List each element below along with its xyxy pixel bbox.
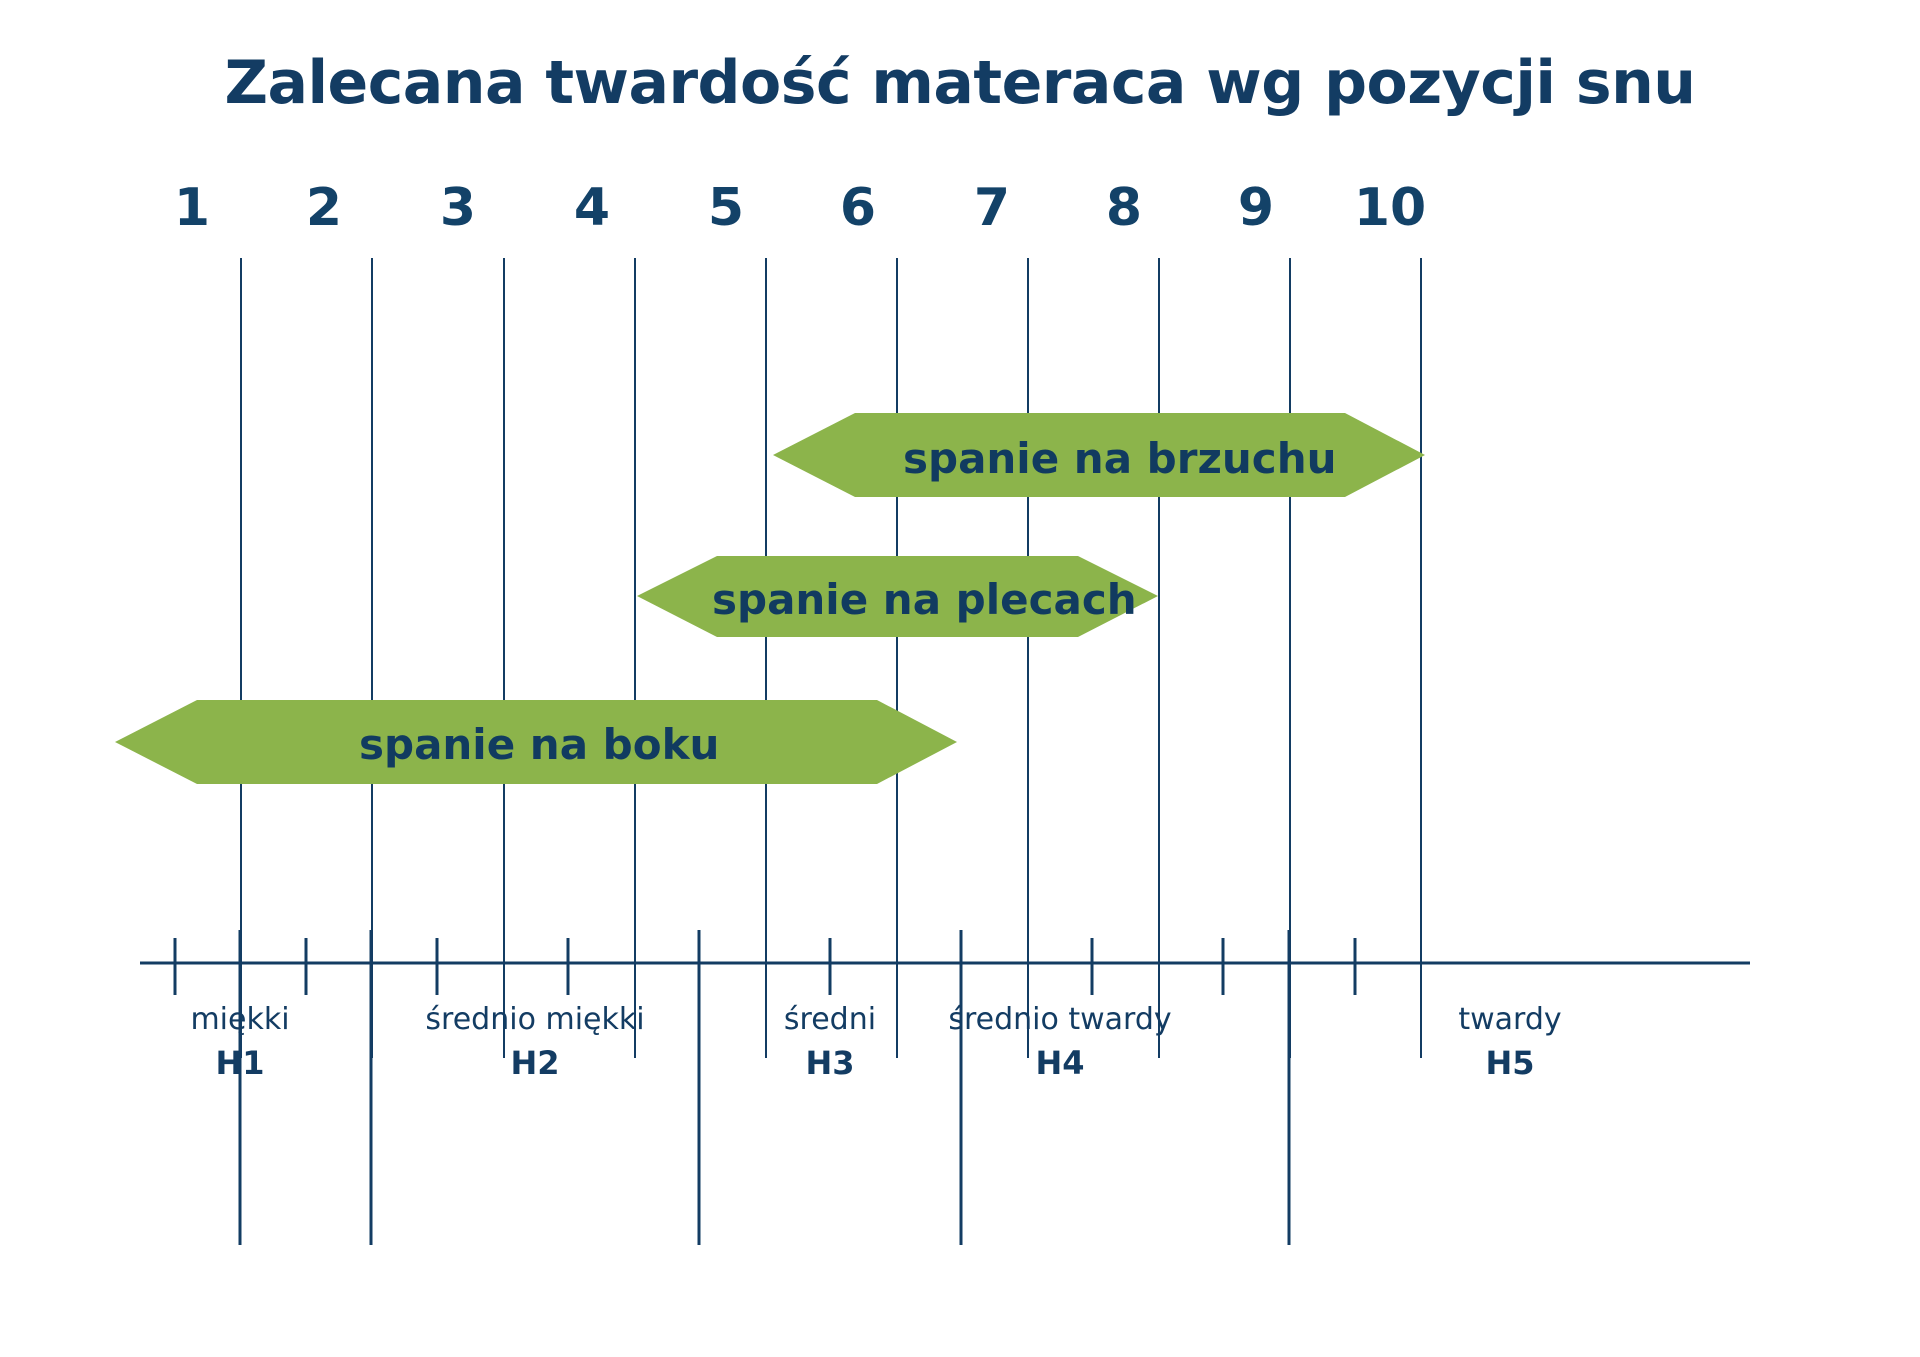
segment-label-h5: twardy H5 [1400, 1000, 1620, 1086]
segment-label-h4: średnio twardy H4 [895, 1000, 1225, 1086]
segment-code-h2: H2 [425, 1040, 645, 1086]
segment-code-h4: H4 [895, 1040, 1225, 1086]
axis-minor-ticks [175, 938, 1355, 995]
segment-code-h5: H5 [1400, 1040, 1620, 1086]
segment-code-h1: H1 [130, 1040, 350, 1086]
axis-major-ticks [240, 930, 1289, 1245]
infographic-root: Zalecana twardość materaca wg pozycji sn… [0, 0, 1920, 1357]
segment-label-h1: miękki H1 [130, 1000, 350, 1086]
segment-name-h2: średnio miękki [425, 1000, 645, 1040]
segment-name-h5: twardy [1400, 1000, 1620, 1040]
segment-name-h4: średnio twardy [895, 1000, 1225, 1040]
segment-name-h1: miękki [130, 1000, 350, 1040]
range-bar-label-plecach: spanie na plecach [712, 575, 1137, 624]
segment-label-h2: średnio miękki H2 [425, 1000, 645, 1086]
range-bar-label-boku: spanie na boku [359, 720, 719, 769]
chart-artwork [0, 0, 1920, 1357]
range-bar-label-brzuchu: spanie na brzuchu [903, 434, 1337, 483]
